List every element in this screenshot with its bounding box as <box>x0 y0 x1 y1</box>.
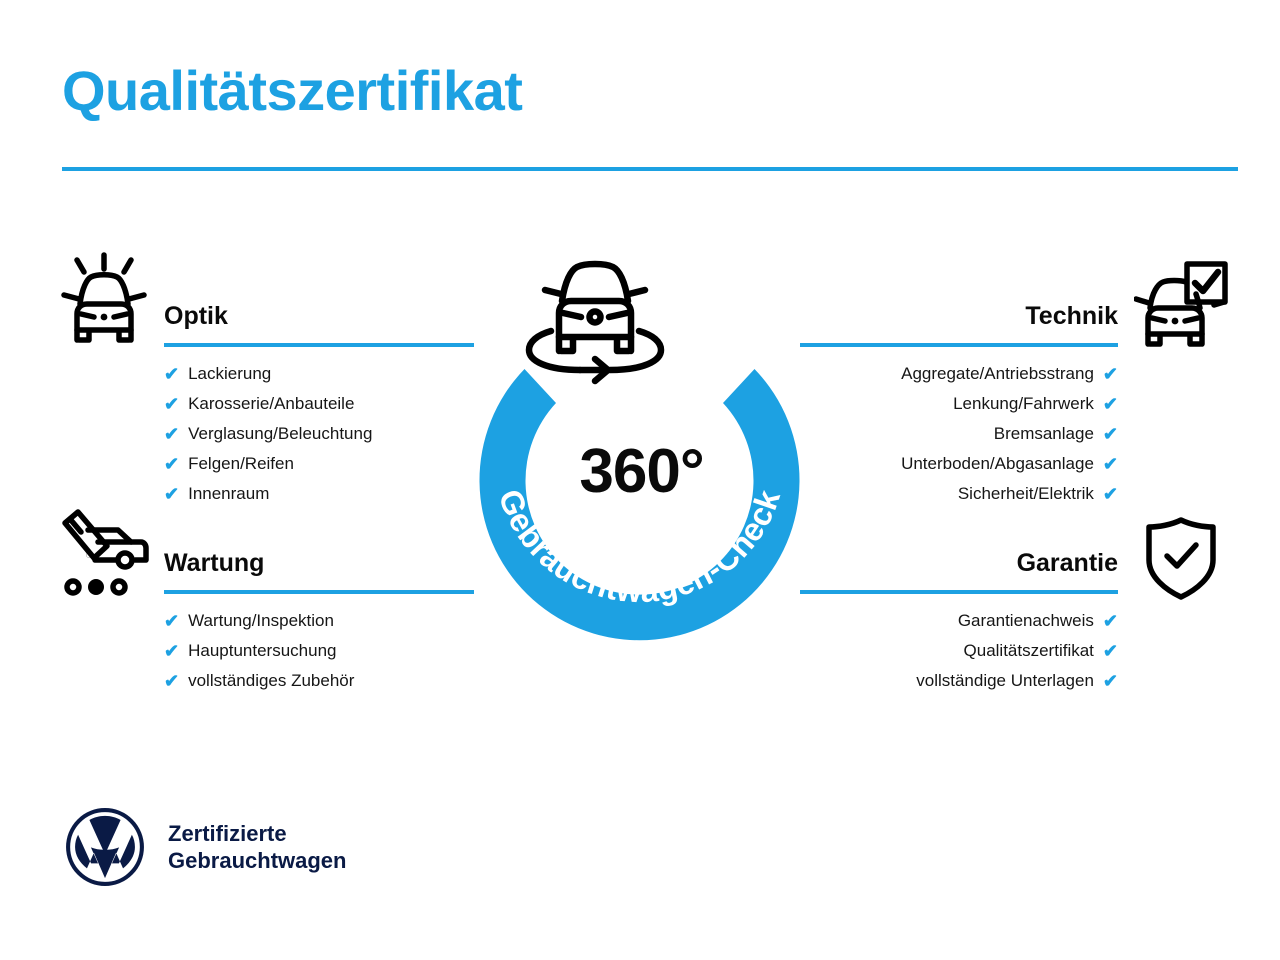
section-technik: Technik Aggregate/Antriebsstrang✔Lenkung… <box>800 301 1118 509</box>
checklist-item: Sicherheit/Elektrik✔ <box>800 479 1118 509</box>
checklist-item: ✔Hauptuntersuchung <box>164 636 474 666</box>
checklist-item: Unterboden/Abgasanlage✔ <box>800 449 1118 479</box>
checklist-item-label: Verglasung/Beleuchtung <box>188 419 372 449</box>
check-icon: ✔ <box>164 666 179 696</box>
section-technik-title: Technik <box>800 301 1118 331</box>
check-icon: ✔ <box>1103 359 1118 389</box>
checklist-item: ✔Innenraum <box>164 479 474 509</box>
section-technik-head: Technik <box>800 301 1118 347</box>
section-garantie: Garantie Garantienachweis✔Qualitätszerti… <box>800 548 1118 696</box>
checklist-item-label: Bremsanlage <box>994 419 1094 449</box>
badge-ring-svg: Gebrauchtwagen-Check <box>452 243 827 643</box>
section-technik-underline <box>800 343 1118 347</box>
check-icon: ✔ <box>1103 479 1118 509</box>
section-garantie-title: Garantie <box>800 548 1118 578</box>
check-icon: ✔ <box>1103 606 1118 636</box>
checklist-item: Lenkung/Fahrwerk✔ <box>800 389 1118 419</box>
check-icon: ✔ <box>1103 666 1118 696</box>
checklist-item: ✔vollständiges Zubehör <box>164 666 474 696</box>
checklist-item-label: Innenraum <box>188 479 269 509</box>
checklist-item-label: Lenkung/Fahrwerk <box>953 389 1094 419</box>
check-icon: ✔ <box>1103 449 1118 479</box>
checklist-item: Aggregate/Antriebsstrang✔ <box>800 359 1118 389</box>
checklist-item-label: Qualitätszertifikat <box>964 636 1094 666</box>
car-shine-icon <box>57 252 151 348</box>
checklist-item-label: Aggregate/Antriebsstrang <box>901 359 1094 389</box>
section-optik: Optik ✔Lackierung✔Karosserie/Anbauteile✔… <box>164 301 474 509</box>
checklist-item-label: Wartung/Inspektion <box>188 606 334 636</box>
check-icon: ✔ <box>164 419 179 449</box>
check-icon: ✔ <box>164 449 179 479</box>
check-icon: ✔ <box>164 606 179 636</box>
shield-check-icon <box>1138 514 1224 602</box>
vw-certified-line2: Gebrauchtwagen <box>168 847 346 874</box>
check-icon: ✔ <box>1103 389 1118 419</box>
vw-certified-label: Zertifizierte Gebrauchtwagen <box>168 820 346 874</box>
checklist-item: Qualitätszertifikat✔ <box>800 636 1118 666</box>
section-wartung-list: ✔Wartung/Inspektion✔Hauptuntersuchung✔vo… <box>164 606 474 696</box>
header-divider <box>62 167 1238 171</box>
section-wartung-underline <box>164 590 474 594</box>
checklist-item-label: Hauptuntersuchung <box>188 636 336 666</box>
section-optik-underline <box>164 343 474 347</box>
section-optik-list: ✔Lackierung✔Karosserie/Anbauteile✔Vergla… <box>164 359 474 509</box>
vw-certified-line1: Zertifizierte <box>168 820 346 847</box>
car-service-pen-icon <box>57 508 151 600</box>
checklist-item: ✔Wartung/Inspektion <box>164 606 474 636</box>
section-garantie-list: Garantienachweis✔Qualitätszertifikat✔vol… <box>800 606 1118 696</box>
vw-certified-logo-block: Zertifizierte Gebrauchtwagen <box>64 806 346 888</box>
checklist-item: ✔Verglasung/Beleuchtung <box>164 419 474 449</box>
checklist-item-label: Unterboden/Abgasanlage <box>901 449 1094 479</box>
section-wartung: Wartung ✔Wartung/Inspektion✔Hauptuntersu… <box>164 548 474 696</box>
check-icon: ✔ <box>164 479 179 509</box>
section-technik-list: Aggregate/Antriebsstrang✔Lenkung/Fahrwer… <box>800 359 1118 509</box>
check-icon: ✔ <box>1103 419 1118 449</box>
page-title: Qualitätszertifikat <box>62 60 522 122</box>
checklist-item-label: Sicherheit/Elektrik <box>958 479 1094 509</box>
checklist-item: Garantienachweis✔ <box>800 606 1118 636</box>
checklist-item-label: Lackierung <box>188 359 271 389</box>
vw-logo <box>64 806 146 888</box>
check-icon: ✔ <box>164 389 179 419</box>
section-wartung-title: Wartung <box>164 548 474 578</box>
checklist-item-label: Garantienachweis <box>958 606 1094 636</box>
badge-360-gebrauchtwagen-check: Gebrauchtwagen-Check <box>452 243 827 643</box>
checklist-item-label: Felgen/Reifen <box>188 449 294 479</box>
checklist-item-label: vollständige Unterlagen <box>916 666 1094 696</box>
check-icon: ✔ <box>1103 636 1118 666</box>
checklist-item-label: vollständiges Zubehör <box>188 666 354 696</box>
car-rotate-360-icon <box>529 264 661 381</box>
checklist-item: ✔Felgen/Reifen <box>164 449 474 479</box>
checklist-item: ✔Karosserie/Anbauteile <box>164 389 474 419</box>
section-wartung-head: Wartung <box>164 548 474 594</box>
section-optik-title: Optik <box>164 301 474 331</box>
checklist-item: ✔Lackierung <box>164 359 474 389</box>
section-garantie-underline <box>800 590 1118 594</box>
car-checkbox-icon <box>1134 258 1230 350</box>
check-icon: ✔ <box>164 359 179 389</box>
quality-certificate-page: Qualitätszertifikat <box>0 0 1280 960</box>
section-garantie-head: Garantie <box>800 548 1118 594</box>
section-optik-head: Optik <box>164 301 474 347</box>
checklist-item: Bremsanlage✔ <box>800 419 1118 449</box>
checklist-item: vollständige Unterlagen✔ <box>800 666 1118 696</box>
checklist-item-label: Karosserie/Anbauteile <box>188 389 354 419</box>
check-icon: ✔ <box>164 636 179 666</box>
